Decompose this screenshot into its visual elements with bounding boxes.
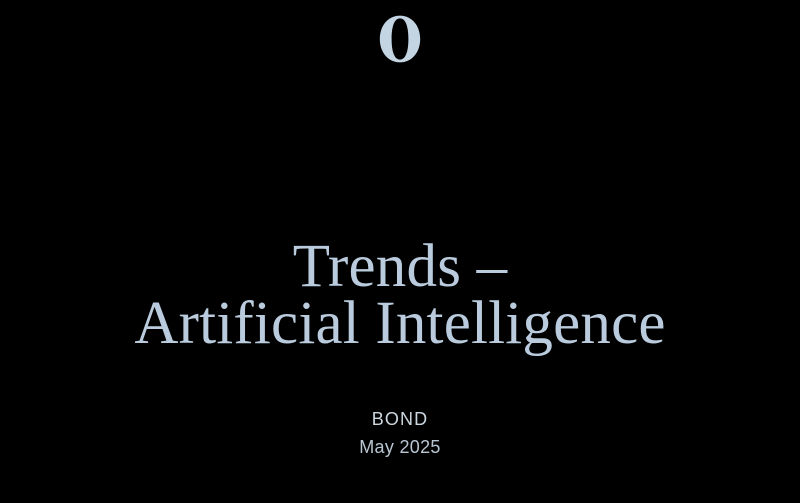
publication-date: May 2025 xyxy=(0,434,800,460)
bond-o-logo-icon xyxy=(376,14,424,64)
page-title: Trends – Artificial Intelligence xyxy=(0,238,800,352)
logo-container xyxy=(0,14,800,74)
title-line-2: Artificial Intelligence xyxy=(0,295,800,352)
subtitle-container: BOND May 2025 xyxy=(0,406,800,460)
title-line-1: Trends – xyxy=(0,238,800,295)
title-slide: Trends – Artificial Intelligence BOND Ma… xyxy=(0,0,800,503)
brand-name: BOND xyxy=(0,406,800,432)
